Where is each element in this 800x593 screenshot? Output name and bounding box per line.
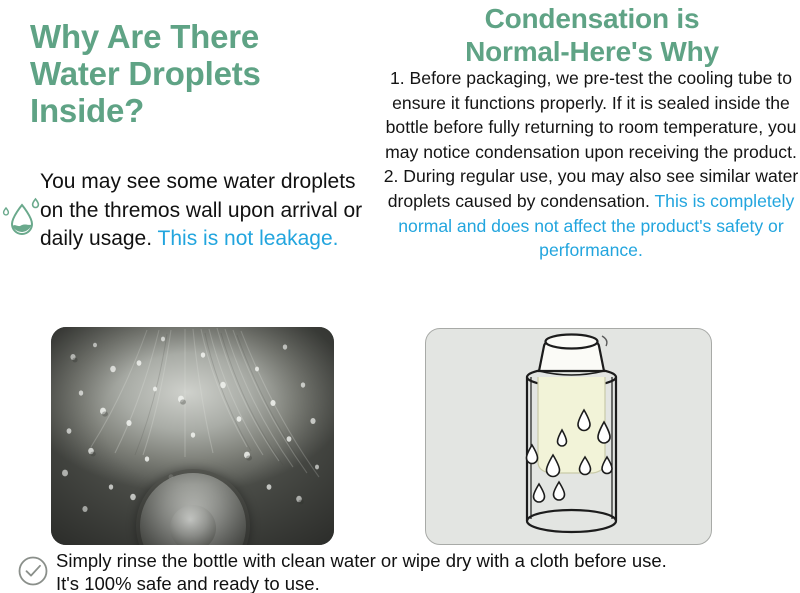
water-droplet-icon	[2, 196, 44, 240]
right-body-item-1: 1. Before packaging, we pre-test the coo…	[385, 68, 797, 162]
right-heading-line-2: Normal-Here's Why	[392, 35, 792, 68]
left-heading-line-1: Why Are There	[30, 18, 370, 55]
footer-note: Simply rinse the bottle with clean water…	[56, 550, 796, 593]
bottle-drawing	[426, 329, 713, 546]
bottle-cap	[539, 335, 604, 376]
photo-vignette	[51, 327, 334, 545]
infographic-page: Why Are There Water Droplets Inside? Con…	[0, 0, 800, 593]
left-heading-line-3: Inside?	[30, 92, 370, 129]
footer-line-2: It's 100% safe and ready to use.	[56, 573, 796, 593]
right-column-body: 1. Before packaging, we pre-test the coo…	[382, 66, 800, 263]
thermos-interior-condensation-photo	[51, 327, 334, 545]
left-column-body: You may see some water droplets on the t…	[40, 168, 370, 254]
left-column-heading: Why Are There Water Droplets Inside?	[30, 18, 370, 129]
right-heading-line-1: Condensation is	[392, 2, 792, 35]
bottle-condensation-diagram	[425, 328, 712, 545]
bottle-cooling-tube	[538, 377, 605, 473]
circle-check-icon	[16, 554, 50, 588]
left-heading-line-2: Water Droplets	[30, 55, 370, 92]
footer-line-1: Simply rinse the bottle with clean water…	[56, 550, 796, 573]
right-column-heading: Condensation is Normal-Here's Why	[392, 2, 792, 68]
left-body-highlight-text: This is not leakage.	[158, 227, 339, 250]
cap-highlight-stroke	[602, 336, 607, 346]
bottle-base	[527, 510, 616, 532]
